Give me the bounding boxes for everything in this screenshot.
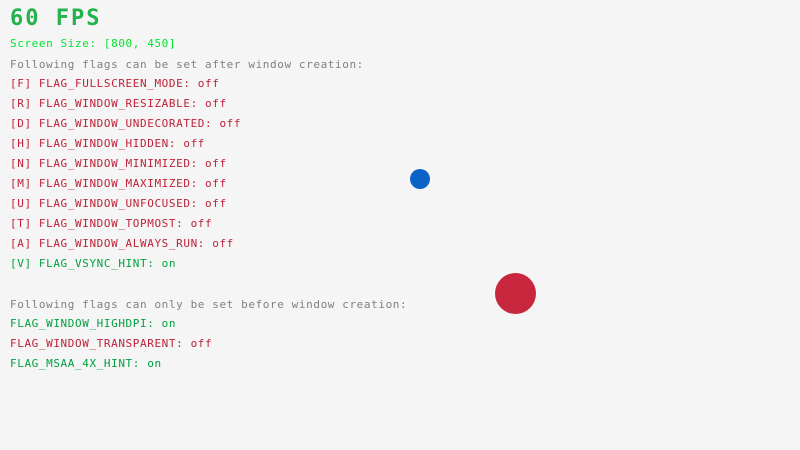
flag-row-window-highdpi: FLAG_WINDOW_HIGHDPI: on — [10, 318, 176, 329]
flag-row-window-always-run[interactable]: [A] FLAG_WINDOW_ALWAYS_RUN: off — [10, 238, 234, 249]
red-ball-circle — [495, 273, 536, 314]
flag-row-vsync-hint[interactable]: [V] FLAG_VSYNC_HINT: on — [10, 258, 176, 269]
flag-row-window-topmost[interactable]: [T] FLAG_WINDOW_TOPMOST: off — [10, 218, 212, 229]
flag-row-window-hidden[interactable]: [H] FLAG_WINDOW_HIDDEN: off — [10, 138, 205, 149]
heading-flags-before-creation: Following flags can only be set before w… — [10, 299, 407, 310]
flag-row-fullscreen-mode[interactable]: [F] FLAG_FULLSCREEN_MODE: off — [10, 78, 219, 89]
fps-counter: 60 FPS — [10, 8, 101, 30]
flag-row-window-minimized[interactable]: [N] FLAG_WINDOW_MINIMIZED: off — [10, 158, 227, 169]
flag-row-window-undecorated[interactable]: [D] FLAG_WINDOW_UNDECORATED: off — [10, 118, 241, 129]
raylib-window-flags-demo: 60 FPS Screen Size: [800, 450] Following… — [0, 0, 800, 450]
flag-row-window-transparent: FLAG_WINDOW_TRANSPARENT: off — [10, 338, 212, 349]
flag-row-window-unfocused[interactable]: [U] FLAG_WINDOW_UNFOCUSED: off — [10, 198, 227, 209]
flag-row-window-resizable[interactable]: [R] FLAG_WINDOW_RESIZABLE: off — [10, 98, 227, 109]
flag-row-msaa-4x-hint: FLAG_MSAA_4X_HINT: on — [10, 358, 162, 369]
screen-size-label: Screen Size: [800, 450] — [10, 38, 176, 49]
blue-ball-circle — [410, 169, 430, 189]
flag-row-window-maximized[interactable]: [M] FLAG_WINDOW_MAXIMIZED: off — [10, 178, 227, 189]
heading-flags-after-creation: Following flags can be set after window … — [10, 59, 364, 70]
